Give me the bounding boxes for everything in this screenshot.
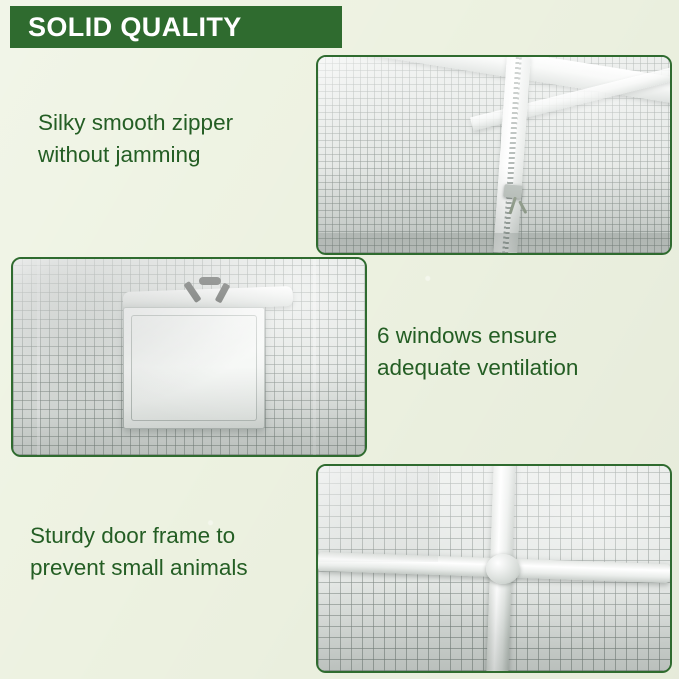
tie-strap-knot (199, 277, 221, 285)
header-banner: SOLID QUALITY (10, 6, 342, 48)
photo-panel-zipper (316, 55, 672, 255)
photo-panel-window (11, 257, 367, 457)
zipper-photo (318, 57, 670, 253)
cover-seam-right (313, 259, 316, 455)
product-feature-page: SOLID QUALITY Silky smooth zipper withou… (0, 0, 679, 679)
fabric-shadow-left (318, 466, 438, 562)
door-frame-photo (318, 466, 670, 671)
frame-joint-connector (486, 554, 520, 584)
caption-windows: 6 windows ensure adequate ventilation (377, 320, 649, 384)
photo-panel-door (316, 464, 672, 673)
cover-seam-left (37, 259, 40, 455)
caption-zipper: Silky smooth zipper without jamming (38, 107, 300, 171)
caption-door: Sturdy door frame to prevent small anima… (30, 520, 320, 584)
window-panel-inner (131, 315, 257, 421)
fabric-fold (318, 233, 670, 253)
window-photo (13, 259, 365, 455)
page-title: SOLID QUALITY (28, 14, 242, 41)
